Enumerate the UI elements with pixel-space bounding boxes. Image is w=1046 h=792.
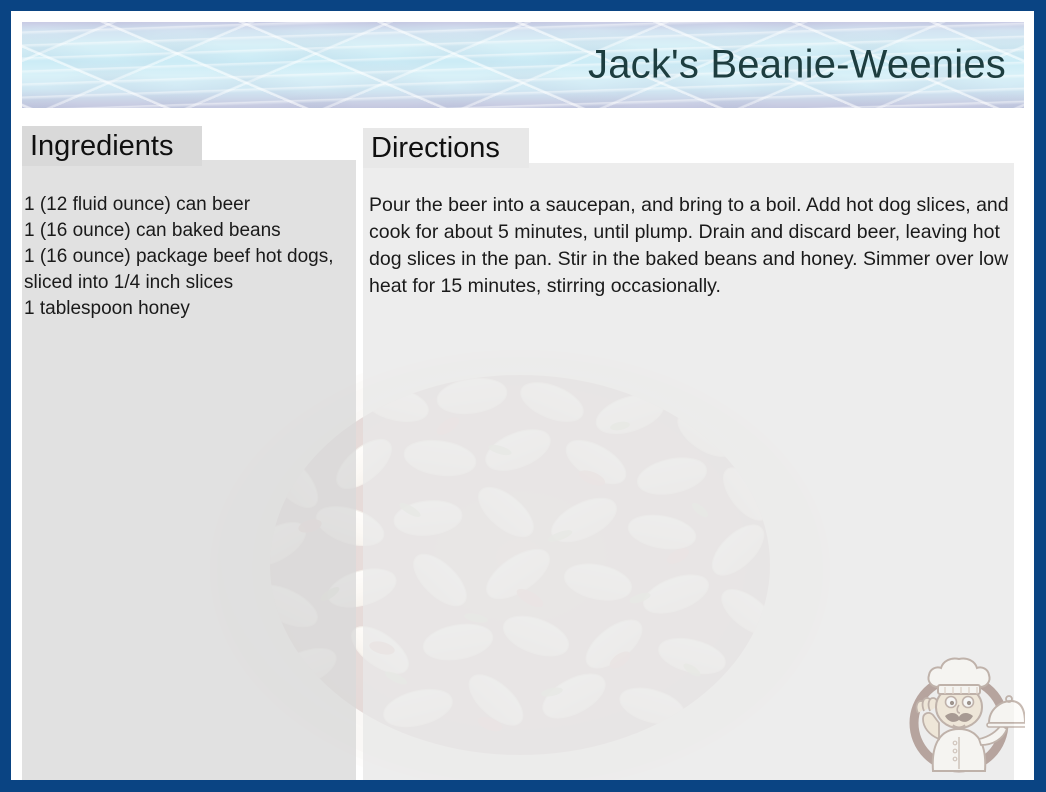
list-item: 1 (12 fluid ounce) can beer	[24, 192, 344, 218]
frame-border-left	[0, 0, 11, 792]
title-banner: Jack's Beanie-Weenies	[22, 22, 1024, 108]
directions-section-tab: Directions	[363, 128, 529, 168]
recipe-card: Jack's Beanie-Weenies Ingredients 1 (12 …	[0, 0, 1046, 792]
frame-border-top	[0, 0, 1046, 11]
page-title: Jack's Beanie-Weenies	[588, 43, 1006, 88]
list-item: 1 (16 ounce) can baked beans	[24, 218, 344, 244]
ingredients-heading: Ingredients	[30, 130, 174, 163]
list-item: 1 (16 ounce) package beef hot dogs, slic…	[24, 244, 344, 296]
ingredients-section-tab: Ingredients	[22, 126, 202, 166]
ingredients-list: 1 (12 fluid ounce) can beer 1 (16 ounce)…	[24, 192, 344, 322]
directions-body: Pour the beer into a saucepan, and bring…	[369, 192, 1017, 300]
directions-heading: Directions	[371, 132, 500, 165]
frame-border-bottom	[0, 780, 1046, 792]
frame-border-right	[1034, 0, 1046, 792]
list-item: 1 tablespoon honey	[24, 296, 344, 322]
